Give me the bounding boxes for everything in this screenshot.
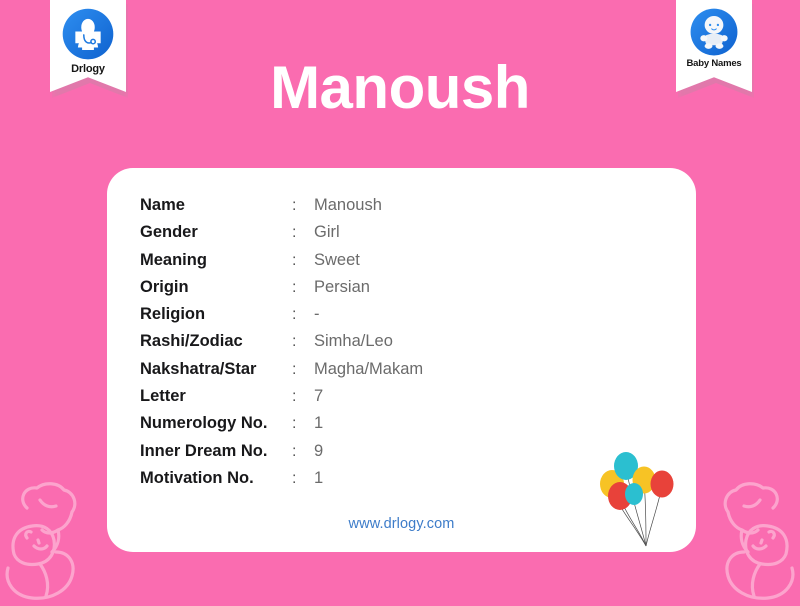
detail-row-separator: : <box>292 465 314 492</box>
detail-row-separator: : <box>292 219 314 246</box>
detail-row-separator: : <box>292 410 314 437</box>
doctor-medical-cross-icon <box>61 7 115 61</box>
detail-row-separator: : <box>292 383 314 410</box>
detail-row-value: Sweet <box>314 247 423 274</box>
detail-row-label: Rashi/Zodiac <box>140 328 292 355</box>
mother-and-baby-watermark-right <box>686 476 800 606</box>
detail-row-label: Nakshatra/Star <box>140 356 292 383</box>
detail-row-label: Religion <box>140 301 292 328</box>
detail-row-value: Girl <box>314 219 423 246</box>
detail-row-value: Magha/Makam <box>314 356 423 383</box>
detail-row-label: Inner Dream No. <box>140 438 292 465</box>
mother-and-baby-watermark-left <box>0 476 114 606</box>
website-url[interactable]: www.drlogy.com <box>107 516 696 532</box>
balloons-illustration <box>594 442 690 552</box>
detail-row-label: Origin <box>140 274 292 301</box>
detail-row-label: Letter <box>140 383 292 410</box>
detail-row-separator: : <box>292 328 314 355</box>
detail-row-separator: : <box>292 301 314 328</box>
detail-row-label: Gender <box>140 219 292 246</box>
baby-icon <box>689 7 739 57</box>
detail-row-value: 1 <box>314 465 423 492</box>
detail-row-separator: : <box>292 247 314 274</box>
detail-row-label: Motivation No. <box>140 465 292 492</box>
detail-row-value: Simha/Leo <box>314 328 423 355</box>
brand-ribbon-baby-names-label: Baby Names <box>681 59 747 69</box>
detail-row-value: 9 <box>314 438 423 465</box>
detail-row-value: Manoush <box>314 192 423 219</box>
detail-row-separator: : <box>292 356 314 383</box>
detail-row-separator: : <box>292 438 314 465</box>
name-details-card: Name:ManoushGender:GirlMeaning:SweetOrig… <box>107 168 696 552</box>
detail-row-separator: : <box>292 192 314 219</box>
detail-row-label: Numerology No. <box>140 410 292 437</box>
detail-row-value: 1 <box>314 410 423 437</box>
detail-row-value: - <box>314 301 423 328</box>
detail-row-value: Persian <box>314 274 423 301</box>
name-details-table: Name:ManoushGender:GirlMeaning:SweetOrig… <box>140 192 423 492</box>
detail-row-label: Meaning <box>140 247 292 274</box>
detail-row-separator: : <box>292 274 314 301</box>
detail-row-value: 7 <box>314 383 423 410</box>
detail-row-label: Name <box>140 192 292 219</box>
brand-ribbon-drlogy-label: Drlogy <box>55 63 121 75</box>
